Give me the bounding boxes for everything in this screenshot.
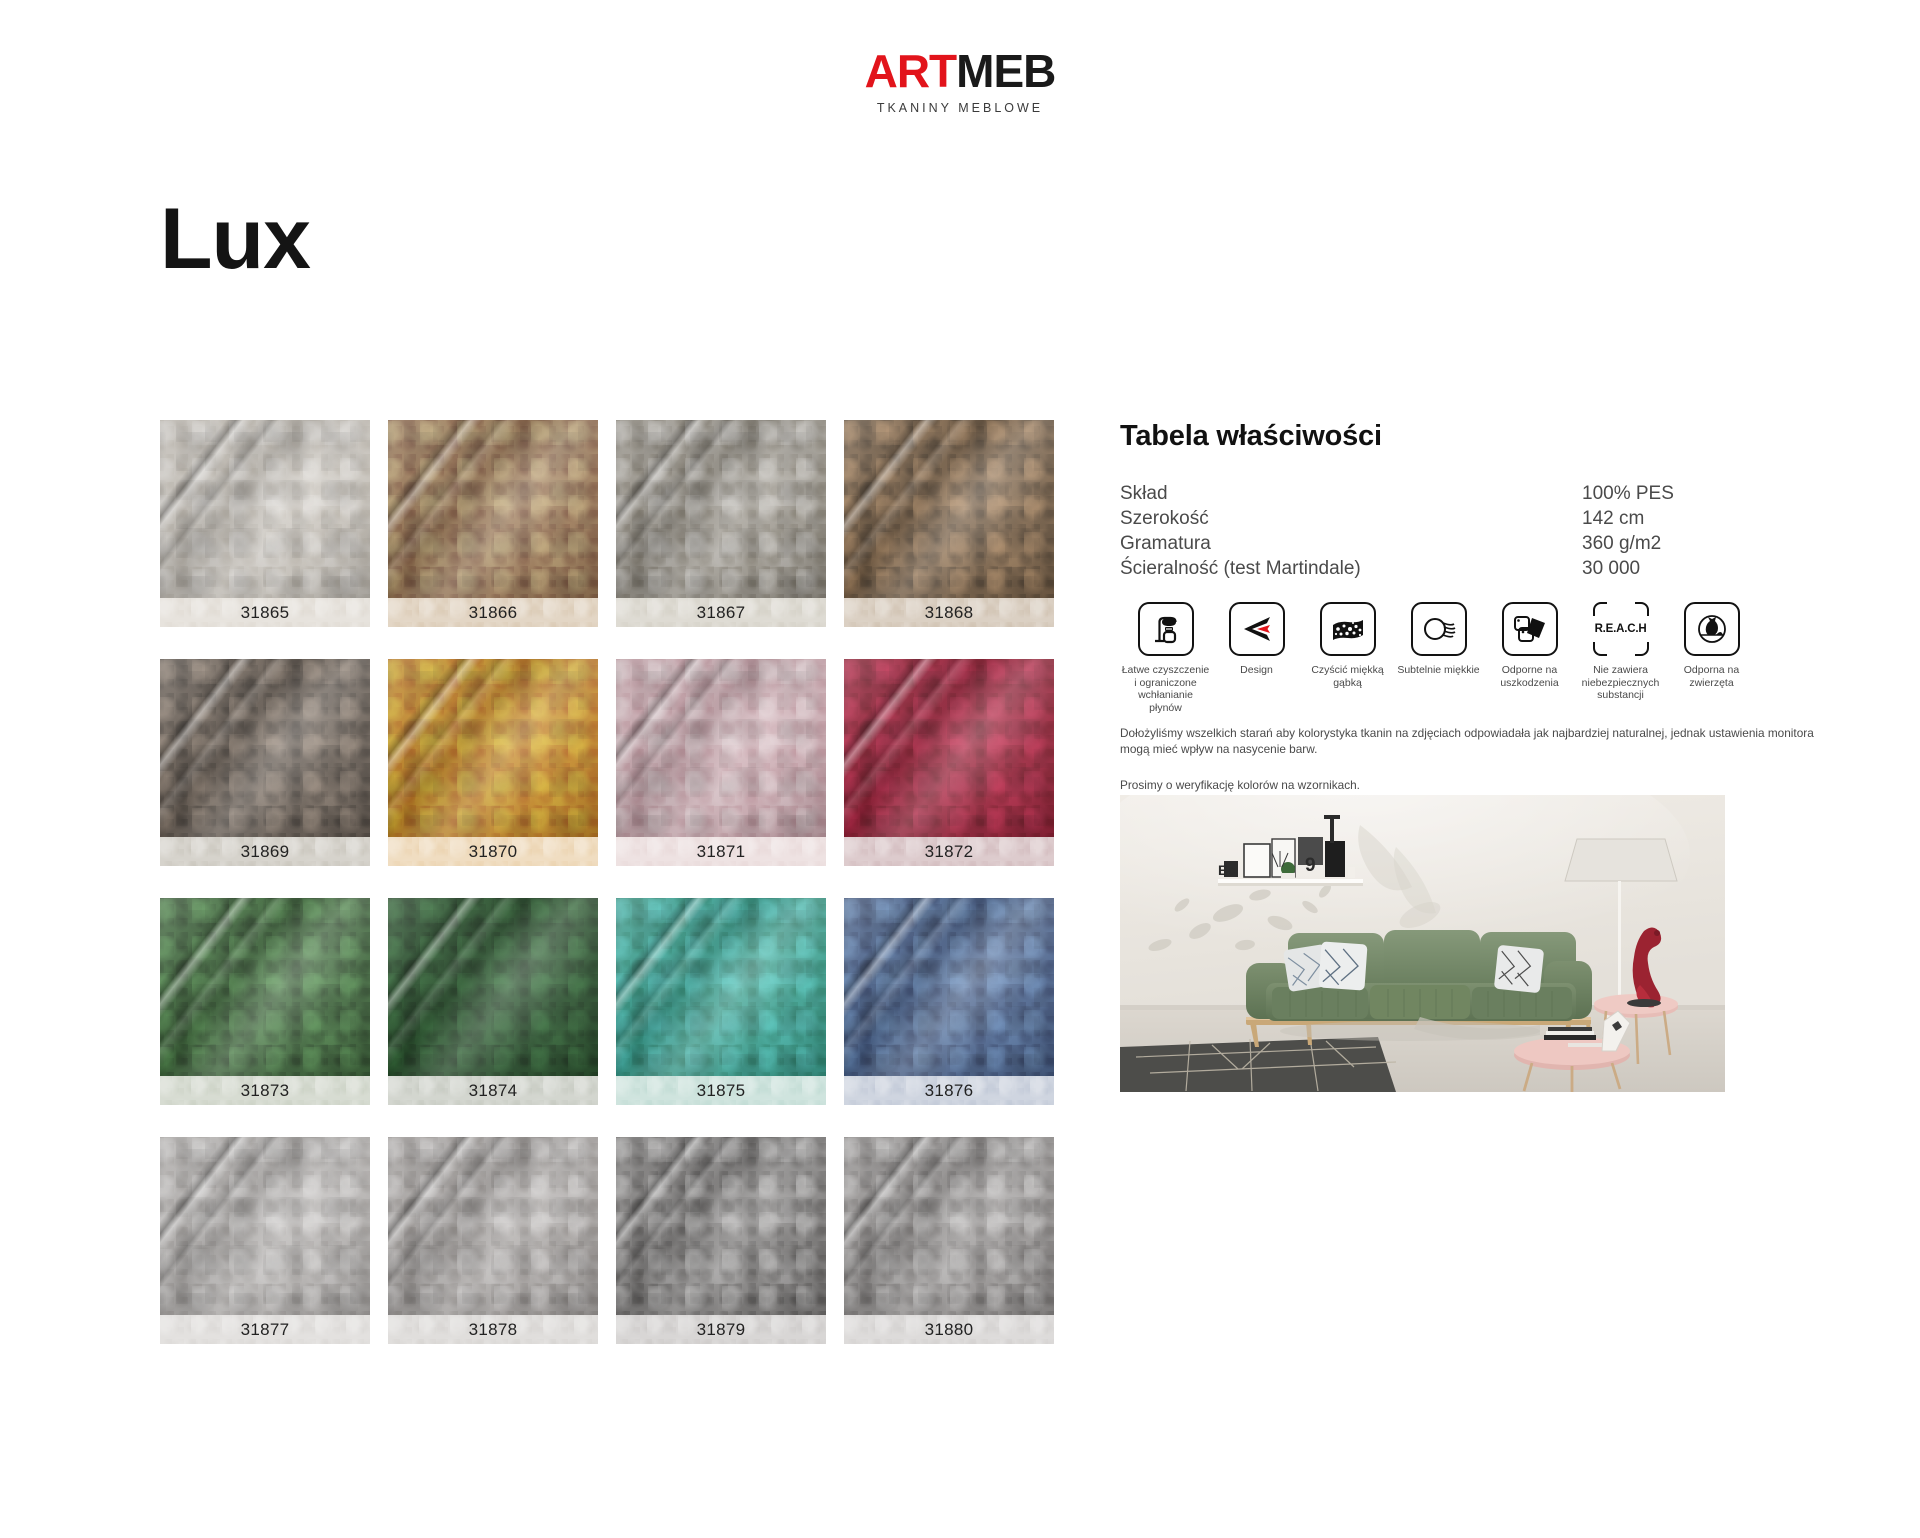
swatch-code-text: 31878	[469, 1320, 518, 1340]
shelf-letters: Bc	[1218, 862, 1236, 878]
swatch-code-text: 31875	[697, 1081, 746, 1101]
swatch-code-label: 31867	[616, 598, 826, 627]
swatch-fabric-image	[388, 420, 598, 598]
page-title: Lux	[160, 196, 310, 282]
swatch-fabric-image	[388, 1137, 598, 1315]
swatch-31879[interactable]: 31879	[616, 1137, 826, 1344]
brand-name-art: ART	[865, 45, 957, 97]
swatch-code-text: 31872	[925, 842, 974, 862]
swatch-code-text: 31870	[469, 842, 518, 862]
swatch-31866[interactable]: 31866	[388, 420, 598, 627]
properties-panel: Tabela właściwości Skład100% PESSzerokoś…	[1120, 420, 1820, 581]
swatch-code-text: 31880	[925, 1320, 974, 1340]
swatch-code-text: 31874	[469, 1081, 518, 1101]
property-name: Gramatura	[1120, 531, 1582, 556]
swatch-code-label: 31865	[160, 598, 370, 627]
property-value: 360 g/m2	[1582, 531, 1685, 556]
swatch-code-text: 31866	[469, 603, 518, 623]
swatch-code-label: 31877	[160, 1315, 370, 1344]
swatch-fabric-image	[160, 420, 370, 598]
swatch-31867[interactable]: 31867	[616, 420, 826, 627]
feature-caption: Łatwe czyszczenie i ograniczone wchłania…	[1121, 664, 1211, 714]
swatch-grid: 3186531866318673186831869318703187131872…	[160, 420, 1054, 1344]
swatch-fabric-image	[844, 898, 1054, 1076]
swatch-fabric-image	[388, 659, 598, 837]
pet-friendly-icon	[1684, 602, 1740, 656]
swatch-code-label: 31875	[616, 1076, 826, 1105]
property-value: 30 000	[1582, 556, 1685, 581]
swatch-fabric-image	[616, 898, 826, 1076]
swatch-31878[interactable]: 31878	[388, 1137, 598, 1344]
swatch-code-text: 31868	[925, 603, 974, 623]
property-row: Skład100% PES	[1120, 481, 1685, 506]
swatch-code-text: 31865	[241, 603, 290, 623]
brand-logo: ARTMEB TKANINY MEBLOWE	[0, 48, 1920, 115]
swatch-code-label: 31876	[844, 1076, 1054, 1105]
fabric-collection-sheet: ARTMEB TKANINY MEBLOWE Lux 3186531866318…	[0, 0, 1920, 1538]
swatch-31874[interactable]: 31874	[388, 898, 598, 1105]
swatch-code-text: 31877	[241, 1320, 290, 1340]
feature-soft-touch: Subtelnie miękkie	[1393, 602, 1484, 714]
swatch-31870[interactable]: 31870	[388, 659, 598, 866]
swatch-code-label: 31866	[388, 598, 598, 627]
swatch-31877[interactable]: 31877	[160, 1137, 370, 1344]
brand-tagline: TKANINY MEBLOWE	[0, 101, 1920, 115]
swatch-fabric-image	[616, 1137, 826, 1315]
disclaimer-block: Dołożyliśmy wszelkich starań aby kolorys…	[1120, 725, 1830, 793]
swatch-code-label: 31880	[844, 1315, 1054, 1344]
feature-caption: Design	[1212, 664, 1302, 677]
swatch-code-text: 31873	[241, 1081, 290, 1101]
reach-corner-br	[1635, 642, 1649, 656]
shelf-poster-letter: 9	[1305, 855, 1316, 876]
properties-title: Tabela właściwości	[1120, 420, 1820, 453]
swatch-31865[interactable]: 31865	[160, 420, 370, 627]
reach-corner-tr	[1635, 602, 1649, 616]
swatch-fabric-image	[160, 898, 370, 1076]
property-value: 142 cm	[1582, 506, 1685, 531]
property-name: Ścieralność (test Martindale)	[1120, 556, 1582, 581]
feature-caption: Subtelnie miękkie	[1394, 664, 1484, 677]
swatch-code-text: 31876	[925, 1081, 974, 1101]
swatch-31876[interactable]: 31876	[844, 898, 1054, 1105]
property-row: Ścieralność (test Martindale)30 000	[1120, 556, 1685, 581]
properties-table: Skład100% PESSzerokość142 cmGramatura360…	[1120, 481, 1685, 581]
swatch-fabric-image	[616, 420, 826, 598]
swatch-code-label: 31874	[388, 1076, 598, 1105]
interior-room-photo: 9 Bc	[1120, 795, 1725, 1092]
feature-caption: Odporne na uszkodzenia	[1485, 664, 1575, 689]
swatch-code-label: 31870	[388, 837, 598, 866]
design-arrow-icon	[1229, 602, 1285, 656]
swatch-code-label: 31873	[160, 1076, 370, 1105]
property-name: Szerokość	[1120, 506, 1582, 531]
reach-certificate-icon: R.E.A.C.H	[1593, 602, 1649, 656]
swatch-code-text: 31869	[241, 842, 290, 862]
swatch-fabric-image	[844, 1137, 1054, 1315]
property-row: Szerokość142 cm	[1120, 506, 1685, 531]
reach-corner-tl	[1593, 602, 1607, 616]
property-name: Skład	[1120, 481, 1582, 506]
interior-scene: 9 Bc	[1120, 795, 1725, 1092]
swatch-31873[interactable]: 31873	[160, 898, 370, 1105]
swatch-31880[interactable]: 31880	[844, 1137, 1054, 1344]
disclaimer-paragraph-1: Dołożyliśmy wszelkich starań aby kolorys…	[1120, 725, 1830, 757]
swatch-code-text: 31867	[697, 603, 746, 623]
feature-reach-certificate: R.E.A.C.HNie zawiera niebezpiecznych sub…	[1575, 602, 1666, 714]
swatch-fabric-image	[388, 898, 598, 1076]
swatch-31868[interactable]: 31868	[844, 420, 1054, 627]
swatch-code-label: 31872	[844, 837, 1054, 866]
reach-label: R.E.A.C.H	[1595, 623, 1647, 635]
feature-icon-row: Łatwe czyszczenie i ograniczone wchłania…	[1120, 602, 1757, 714]
feature-caption: Nie zawiera niebezpiecznych substancji	[1576, 664, 1666, 702]
feature-design-arrow: Design	[1211, 602, 1302, 714]
feature-abrasion-resistant: Odporne na uszkodzenia	[1484, 602, 1575, 714]
swatch-31875[interactable]: 31875	[616, 898, 826, 1105]
sponge-icon	[1320, 602, 1376, 656]
feature-pet-friendly: Odporna na zwierzęta	[1666, 602, 1757, 714]
soft-touch-icon	[1411, 602, 1467, 656]
swatch-code-text: 31879	[697, 1320, 746, 1340]
abrasion-resistant-icon	[1502, 602, 1558, 656]
property-row: Gramatura360 g/m2	[1120, 531, 1685, 556]
swatch-fabric-image	[844, 420, 1054, 598]
swatch-fabric-image	[616, 659, 826, 837]
swatch-code-label: 31878	[388, 1315, 598, 1344]
swatch-code-label: 31869	[160, 837, 370, 866]
swatch-fabric-image	[160, 659, 370, 837]
swatch-fabric-image	[844, 659, 1054, 837]
feature-caption: Czyścić miękką gąbką	[1303, 664, 1393, 689]
disclaimer-paragraph-2: Prosimy o weryfikację kolorów na wzornik…	[1120, 777, 1830, 793]
swatch-code-label: 31868	[844, 598, 1054, 627]
feature-sponge: Czyścić miękką gąbką	[1302, 602, 1393, 714]
swatch-code-label: 31879	[616, 1315, 826, 1344]
swatch-31869[interactable]: 31869	[160, 659, 370, 866]
reach-corner-bl	[1593, 642, 1607, 656]
brand-wordmark: ARTMEB	[0, 48, 1920, 94]
feature-vacuum-cleaner: Łatwe czyszczenie i ograniczone wchłania…	[1120, 602, 1211, 714]
property-value: 100% PES	[1582, 481, 1685, 506]
swatch-code-label: 31871	[616, 837, 826, 866]
swatch-code-text: 31871	[697, 842, 746, 862]
vacuum-cleaner-icon	[1138, 602, 1194, 656]
feature-caption: Odporna na zwierzęta	[1667, 664, 1757, 689]
swatch-31872[interactable]: 31872	[844, 659, 1054, 866]
swatch-31871[interactable]: 31871	[616, 659, 826, 866]
swatch-fabric-image	[160, 1137, 370, 1315]
brand-name-meb: MEB	[956, 45, 1055, 97]
